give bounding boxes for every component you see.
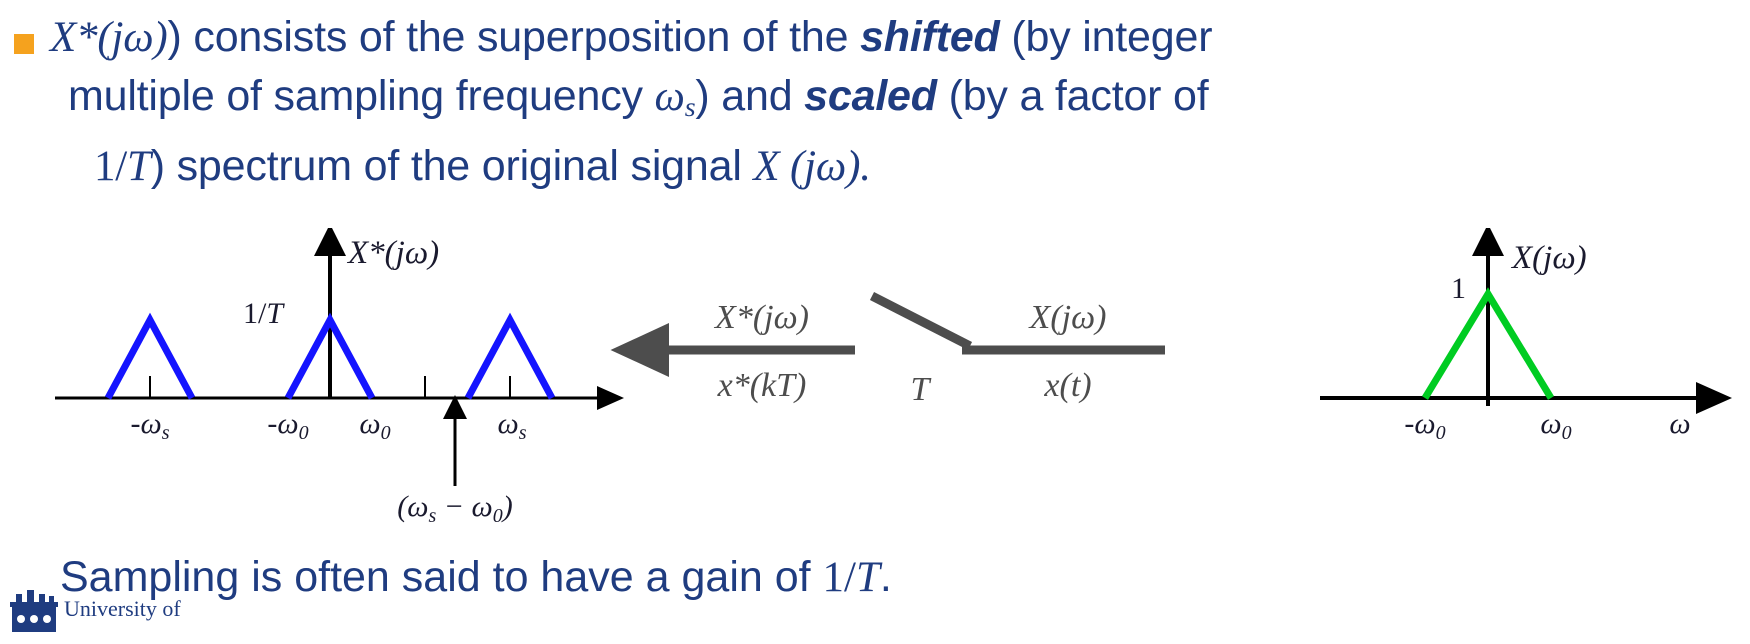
peak-label-one-over-T: 1/T bbox=[243, 297, 285, 330]
bullet-line1-emphasis-shifted: shifted bbox=[860, 13, 1000, 61]
peak-label-one: 1 bbox=[1451, 272, 1466, 305]
bullet-line3-omega: ω bbox=[816, 143, 846, 190]
bullet-line1-math-xstar: X*(j bbox=[50, 14, 123, 61]
university-logo: University of bbox=[8, 588, 198, 644]
bullet-paragraph: X*(jω)) consists of the superposition of… bbox=[14, 8, 1714, 196]
spectra-figure: X*(jω) 1/T -ωs -ω0 ω0 ωs (ωs − ω0) bbox=[0, 228, 1750, 528]
slide-canvas: X*(jω)) consists of the superposition of… bbox=[0, 0, 1750, 644]
bullet-line1-omega: ω bbox=[123, 14, 153, 61]
bullet-line-2: multiple of sampling frequency ωs) and s… bbox=[50, 67, 1714, 137]
sampler-block-diagram: X*(jω) x*(kT) T X(jω) x(t) bbox=[660, 296, 1165, 408]
label-x-of-t: x(t) bbox=[1043, 367, 1091, 404]
chart-sampled-spectrum: X*(jω) 1/T -ωs -ω0 ω0 ωs (ωs − ω0) bbox=[55, 235, 600, 527]
closing-statement-period: . bbox=[880, 553, 892, 601]
figure-svg: X*(jω) 1/T -ωs -ω0 ω0 ωs (ωs − ω0) bbox=[0, 228, 1750, 528]
bullet-marker-square bbox=[14, 34, 34, 54]
label-sampling-period-T: T bbox=[911, 371, 932, 408]
bullet-line1-text-a: ) consists of the superposition of the bbox=[168, 13, 861, 61]
chart-original-spectrum: X(jω) 1 -ω0 ω0 ω bbox=[1320, 240, 1700, 444]
bullet-line3-X: X bbox=[753, 143, 779, 190]
bullet-line1-paren: ) bbox=[153, 14, 167, 61]
label-xstar-kT: x*(kT) bbox=[717, 367, 807, 404]
bullet-line3-jparen: (j bbox=[780, 143, 816, 190]
xtick-label-right-omega-0: ω0 bbox=[1540, 407, 1571, 444]
callout-label-omega-difference: (ωs − ω0) bbox=[397, 490, 512, 527]
bullet-line2-emphasis-scaled: scaled bbox=[804, 72, 937, 120]
chart-title-original: X(jω) bbox=[1510, 240, 1587, 276]
bullet-line2-text-a: multiple of sampling frequency bbox=[68, 72, 655, 120]
bullet-line2-text-b: ) and bbox=[695, 72, 804, 120]
xtick-label-omega-s: ωs bbox=[498, 407, 527, 444]
xtick-label-minus-omega-0: -ω0 bbox=[267, 407, 308, 444]
xtick-label-right-minus-omega-0: -ω0 bbox=[1404, 407, 1445, 444]
bullet-line2-text-c: (by a factor of bbox=[937, 72, 1209, 120]
bullet-line3-fraction: 1/ bbox=[94, 143, 127, 190]
chart-title-sampled: X*(jω) bbox=[346, 235, 439, 271]
xtick-label-omega-0: ω0 bbox=[359, 407, 390, 444]
sampler-switch-blade bbox=[872, 296, 970, 346]
xaxis-label-omega: ω bbox=[1669, 407, 1690, 440]
closing-statement-numerator: 1/ bbox=[823, 554, 856, 601]
bullet-line2-omega: ω bbox=[655, 73, 685, 120]
crest-icon bbox=[8, 588, 60, 634]
bullet-line-3: 1/T) spectrum of the original signal X (… bbox=[50, 137, 1714, 196]
label-Xstar-jomega: X*(jω) bbox=[713, 299, 809, 336]
bullet-line2-omega-sub: s bbox=[685, 92, 696, 123]
bullet-line3-T: T bbox=[127, 143, 151, 190]
label-X-jomega: X(jω) bbox=[1028, 299, 1107, 336]
closing-statement-T: T bbox=[856, 554, 880, 601]
bullet-line3-close: ). bbox=[846, 143, 871, 190]
bullet-line1-text-b: (by integer bbox=[1000, 13, 1213, 61]
bullet-text-body: X*(jω)) consists of the superposition of… bbox=[14, 8, 1714, 196]
logo-text-line1: University of bbox=[64, 598, 181, 620]
bullet-line-1: X*(jω)) consists of the superposition of… bbox=[50, 8, 1714, 67]
xtick-label-minus-omega-s: -ωs bbox=[131, 407, 170, 444]
bullet-line3-text-a: ) spectrum of the original signal bbox=[151, 142, 754, 190]
